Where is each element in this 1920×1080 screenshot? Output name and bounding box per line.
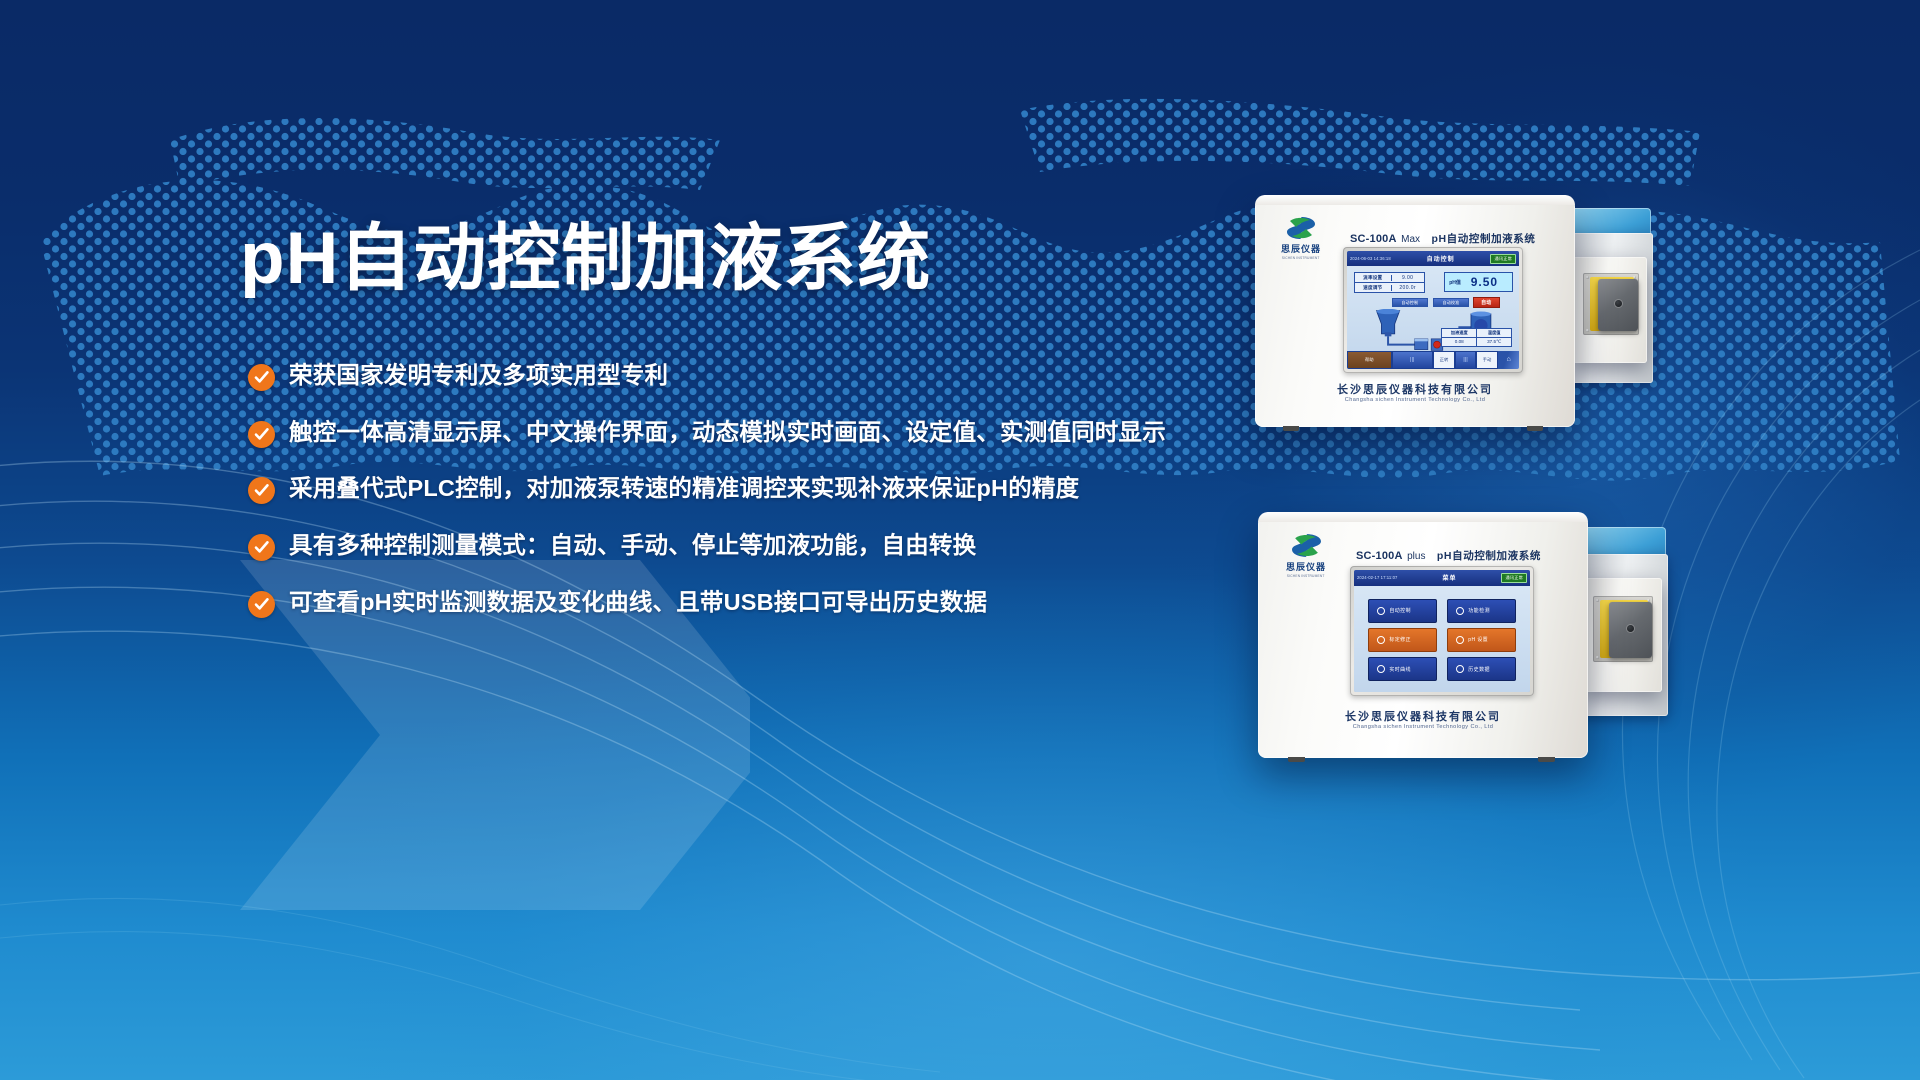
company-footer: 长沙思辰仪器科技有限公司 Changsha sichen Instrument … xyxy=(1255,381,1575,403)
cell-value: 0.08 xyxy=(1442,338,1477,346)
touchscreen-bezel: 2024-06-03 14:36:18 自动控制 通讯正常 流率设置 9.00 xyxy=(1343,247,1523,373)
product-photo-sc100a-plus: 思辰仪器 SICHEN INSTRUMENT SC-100A plus pH自动… xyxy=(1258,512,1728,802)
touchscreen-display[interactable]: 2024-02-17 17:11:07 菜单 通讯正常 自动控制 xyxy=(1354,570,1530,692)
check-circle-icon xyxy=(248,364,275,391)
screen-button-manual[interactable]: 手动 xyxy=(1476,351,1498,369)
slider-handle-icon: ||| xyxy=(1463,357,1468,363)
menu-label: 功能检测 xyxy=(1468,607,1490,614)
feature-text: 可查看pH实时监测数据及变化曲线、且带USB接口可导出历史数据 xyxy=(289,587,987,619)
pump-rotor-cap xyxy=(1615,300,1622,307)
pump-screw xyxy=(1596,656,1599,659)
slider-handle-icon: ||| xyxy=(1410,357,1415,363)
menu-label: 标定修正 xyxy=(1389,636,1411,643)
menu-label: 自动控制 xyxy=(1389,607,1411,614)
table-row: 速度调节 200.0r xyxy=(1355,283,1424,292)
screen-button-manual-group[interactable]: ||| xyxy=(1455,351,1476,369)
model-label: SC-100A Max pH自动控制加液系统 xyxy=(1350,229,1535,247)
screen-timestamp: 2024-02-17 17:11:07 xyxy=(1357,575,1397,580)
brand-name-en: SICHEN INSTRUMENT xyxy=(1287,574,1325,578)
menu-label: pH 设置 xyxy=(1468,636,1488,643)
device-chassis: 思辰仪器 SICHEN INSTRUMENT SC-100A Max pH自动控… xyxy=(1255,195,1575,427)
peristaltic-pump-housing xyxy=(1582,578,1662,692)
settings-icon xyxy=(1456,636,1464,644)
menu-item-history-data[interactable]: 历史数据 xyxy=(1447,657,1516,681)
feature-list: 荣获国家发明专利及多项实用型专利 触控一体高清显示屏、中文操作界面，动态模拟实时… xyxy=(248,360,1248,644)
check-circle-icon xyxy=(248,477,275,504)
list-item: 采用叠代式PLC控制，对加液泵转速的精准调控来实现补液来保证pH的精度 xyxy=(248,473,1248,505)
screen-bottom-bar: 帮助 ||| 正转 ||| 手动 xyxy=(1347,351,1519,369)
company-footer: 长沙思辰仪器科技有限公司 Changsha sichen Instrument … xyxy=(1258,708,1588,730)
device-foot xyxy=(1527,426,1543,431)
screen-body: 自动控制 功能检测 标定修正 xyxy=(1354,586,1530,692)
menu-label: 历史数据 xyxy=(1468,666,1490,673)
screen-header: 2024-06-03 14:36:18 自动控制 通讯正常 xyxy=(1347,251,1519,266)
param-label: 流率设置 xyxy=(1355,275,1392,281)
status-table: 加液速度 温度值 0.08 37.5℃ xyxy=(1441,328,1512,347)
model-code: SC-100A xyxy=(1356,550,1403,562)
table-row: 流率设置 9.00 xyxy=(1355,273,1424,283)
screen-header: 2024-02-17 17:11:07 菜单 通讯正常 xyxy=(1354,570,1530,586)
screen-title: 自动控制 xyxy=(1427,254,1455,263)
chassis-top-edge xyxy=(1255,195,1575,205)
param-label: 速度调节 xyxy=(1355,285,1392,291)
pump-rotor-cap xyxy=(1627,625,1634,632)
menu-item-auto-control[interactable]: 自动控制 xyxy=(1368,599,1437,623)
sichen-logo-icon xyxy=(1272,215,1330,241)
page-title: pH自动控制加液系统 xyxy=(240,222,931,295)
screen-timestamp: 2024-06-03 14:36:18 xyxy=(1350,256,1391,261)
menu-item-realtime-curve[interactable]: 实时曲线 xyxy=(1368,657,1437,681)
feature-text: 具有多种控制测量模式：自动、手动、停止等加液功能，自由转换 xyxy=(289,530,976,562)
chart-icon xyxy=(1377,665,1385,673)
company-name-en: Changsha sichen Instrument Technology Co… xyxy=(1258,724,1588,730)
device-foot xyxy=(1288,757,1305,762)
pump-head xyxy=(1598,279,1638,331)
list-item: 荣获国家发明专利及多项实用型专利 xyxy=(248,360,1248,392)
table-row: 0.08 37.5℃ xyxy=(1442,338,1511,346)
list-item: 可查看pH实时监测数据及变化曲线、且带USB接口可导出历史数据 xyxy=(248,587,1248,619)
device-foot xyxy=(1283,426,1299,431)
column-header: 温度值 xyxy=(1477,329,1511,337)
check-circle-icon xyxy=(248,591,275,618)
home-icon: ⌂ xyxy=(1506,356,1510,363)
parameter-table: 流率设置 9.00 速度调节 200.0r xyxy=(1354,272,1425,293)
target-icon xyxy=(1377,636,1385,644)
status-badge: 通讯正常 xyxy=(1490,254,1516,264)
device-foot xyxy=(1538,757,1555,762)
menu-item-function-test[interactable]: 功能检测 xyxy=(1447,599,1516,623)
cell-value: 37.5℃ xyxy=(1477,338,1511,346)
monitor-icon xyxy=(1456,607,1464,615)
pump-screw xyxy=(1586,276,1589,279)
list-item: 触控一体高清显示屏、中文操作界面，动态模拟实时画面、设定值、实测值同时显示 xyxy=(248,417,1248,449)
peristaltic-pump-housing xyxy=(1573,257,1647,363)
screen-title: 菜单 xyxy=(1442,573,1456,582)
ph-value: 9.50 xyxy=(1461,275,1508,289)
screen-button-auto-control[interactable]: 自动控制 xyxy=(1392,298,1428,307)
chassis-top-edge xyxy=(1258,512,1588,522)
status-badge: 通讯正常 xyxy=(1501,573,1527,583)
gear-icon xyxy=(1377,607,1385,615)
check-circle-icon xyxy=(248,534,275,561)
pump-screw xyxy=(1586,329,1589,332)
screen-button-home[interactable]: ⌂ xyxy=(1498,351,1519,369)
button-label: 帮助 xyxy=(1365,357,1374,363)
menu-label: 实时曲线 xyxy=(1389,666,1411,673)
list-item: 具有多种控制测量模式：自动、手动、停止等加液功能，自由转换 xyxy=(248,530,1248,562)
param-value: 9.00 xyxy=(1392,275,1424,281)
check-circle-icon xyxy=(248,421,275,448)
feature-text: 荣获国家发明专利及多项实用型专利 xyxy=(289,360,668,392)
company-name-en: Changsha sichen Instrument Technology Co… xyxy=(1255,397,1575,403)
menu-grid: 自动控制 功能检测 标定修正 xyxy=(1368,599,1516,682)
screen-button-forward[interactable]: 正转 xyxy=(1433,351,1455,369)
brand-name-cn: 思辰仪器 xyxy=(1286,560,1326,573)
product-photo-sc100a-max: 思辰仪器 SICHEN INSTRUMENT SC-100A Max pH自动控… xyxy=(1255,195,1705,470)
pump-screw xyxy=(1596,599,1599,602)
menu-item-ph-settings[interactable]: pH 设置 xyxy=(1447,628,1516,652)
brand-name-en: SICHEN INSTRUMENT xyxy=(1282,256,1320,260)
screen-body: 流率设置 9.00 速度调节 200.0r pH值 9.50 xyxy=(1347,266,1519,369)
database-icon xyxy=(1456,665,1464,673)
feature-text: 采用叠代式PLC控制，对加液泵转速的精准调控来实现补液来保证pH的精度 xyxy=(289,473,1079,505)
button-label: 手动 xyxy=(1483,357,1492,363)
button-label: 正转 xyxy=(1440,357,1449,363)
product-banner: pH自动控制加液系统 荣获国家发明专利及多项实用型专利 触控一体高清显示屏、中文… xyxy=(0,0,1920,1080)
brand-name-cn: 思辰仪器 xyxy=(1281,242,1321,255)
ph-label: pH值 xyxy=(1449,279,1461,286)
model-name-cn: pH自动控制加液系统 xyxy=(1437,550,1541,562)
feature-text: 触控一体高清显示屏、中文操作界面，动态模拟实时画面、设定值、实测值同时显示 xyxy=(289,417,1166,449)
model-code: SC-100A xyxy=(1350,233,1397,245)
model-name-cn: pH自动控制加液系统 xyxy=(1431,233,1535,245)
brand-logo: 思辰仪器 SICHEN INSTRUMENT xyxy=(1272,215,1330,260)
screen-button-forward-group[interactable]: ||| xyxy=(1392,351,1433,369)
model-label: SC-100A plus pH自动控制加液系统 xyxy=(1356,546,1541,564)
company-name-cn: 长沙思辰仪器科技有限公司 xyxy=(1258,708,1588,724)
model-suffix: plus xyxy=(1407,551,1425,562)
screen-button-auto-calibrate[interactable]: 自动校准 xyxy=(1433,298,1469,307)
param-value: 200.0r xyxy=(1392,285,1424,291)
screen-button-auto-mode[interactable]: 自动 xyxy=(1473,297,1501,308)
sichen-logo-icon xyxy=(1276,532,1336,559)
touchscreen-display[interactable]: 2024-06-03 14:36:18 自动控制 通讯正常 流率设置 9.00 xyxy=(1347,251,1519,369)
ph-readout: pH值 9.50 xyxy=(1444,272,1513,292)
device-chassis: 思辰仪器 SICHEN INSTRUMENT SC-100A plus pH自动… xyxy=(1258,512,1588,758)
table-header-row: 加液速度 温度值 xyxy=(1442,329,1511,338)
pump-head xyxy=(1609,602,1652,658)
brand-logo: 思辰仪器 SICHEN INSTRUMENT xyxy=(1276,532,1336,578)
company-name-cn: 长沙思辰仪器科技有限公司 xyxy=(1255,381,1575,397)
screen-button-help[interactable]: 帮助 xyxy=(1347,351,1392,369)
model-suffix: Max xyxy=(1401,234,1420,245)
text-content: pH自动控制加液系统 荣获国家发明专利及多项实用型专利 触控一体高清显示屏、中文… xyxy=(0,0,1200,1080)
touchscreen-bezel: 2024-02-17 17:11:07 菜单 通讯正常 自动控制 xyxy=(1350,566,1534,696)
menu-item-calibration[interactable]: 标定修正 xyxy=(1368,628,1437,652)
column-header: 加液速度 xyxy=(1442,329,1477,337)
